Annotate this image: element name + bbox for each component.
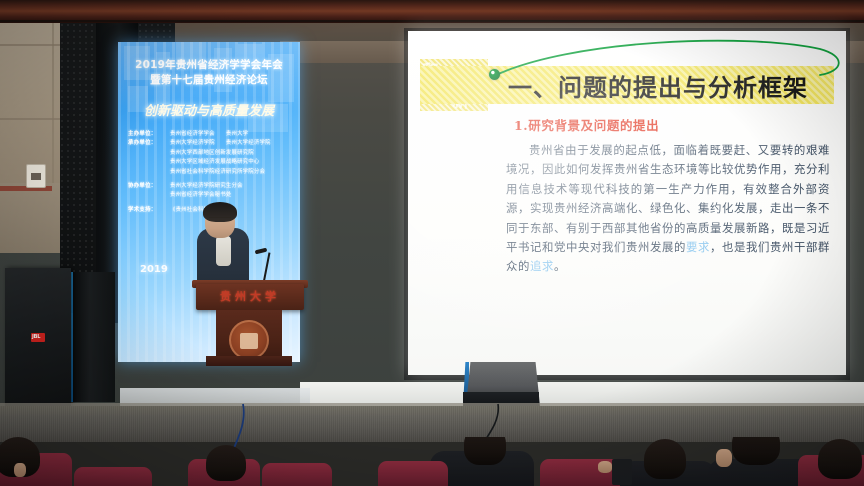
audience-head [732, 437, 780, 465]
banner-title-line2: 暨第十七届贵州经济论坛 [118, 73, 300, 88]
wall-switch-plate[interactable] [26, 164, 46, 188]
audience-head [206, 445, 246, 481]
audience-ear [716, 449, 732, 467]
jbl-logo [31, 333, 45, 342]
green-bullet-dot [489, 69, 500, 80]
speaker-cabinet-rear [73, 272, 115, 402]
audience-head [818, 439, 862, 479]
audience-face [14, 463, 26, 477]
conference-photo-scene: 2019年贵州省经济学学会年会 暨第十七届贵州经济论坛 创新驱动与高质量发展 主… [0, 0, 864, 486]
lectern-base [206, 356, 292, 366]
audience-head [644, 439, 686, 479]
body-tail-3: 。 [554, 259, 566, 273]
slide-title: 一、问题的提出与分析框架 [508, 67, 834, 103]
auditorium-seat[interactable] [262, 463, 332, 486]
presenter-glasses [209, 217, 231, 223]
body-highlight-1: 要求 [686, 240, 710, 254]
audience-front-row [0, 437, 864, 486]
university-emblem [229, 320, 269, 360]
smartphone[interactable] [612, 459, 632, 485]
organizer-row: 贵州大学区域经济发展战略研究中心 [128, 158, 294, 167]
organizer-row: 承办单位：贵州大学经济学院 贵州大学经济学院 [128, 139, 294, 148]
presenter-shirt [216, 236, 231, 266]
organizer-row: 贵州省社会科学院经济研究所学院分会 [128, 168, 294, 177]
auditorium-seat[interactable] [378, 461, 448, 486]
banner-title-line1: 2019年贵州省经济学学会年会 [118, 58, 300, 73]
trim-shadow-line [0, 20, 864, 22]
lectern-institution-text: 贵州大学 [196, 288, 304, 304]
auditorium-seat[interactable] [74, 467, 152, 486]
slide-body-text: 贵州省由于发展的起点低，面临着既要赶、又要转的艰难境况，因此如何发挥贵州省生态环… [506, 141, 830, 277]
wall-moulding-vertical [52, 23, 54, 183]
slide-subheading: 1.研究背景及问题的提出 [514, 115, 659, 134]
banner-title: 2019年贵州省经济学学会年会 暨第十七届贵州经济论坛 [118, 58, 300, 88]
projected-slide: 和 谐 创 新 一、问题的提出与分析框架 1.研究背景及问题的提出 贵州省由于发… [408, 31, 846, 375]
body-highlight-2: 追求 [530, 259, 554, 273]
banner-subtitle: 创新驱动与高质量发展 [118, 100, 300, 119]
audience-head [464, 437, 506, 465]
audience-hand [598, 461, 612, 473]
banner-year: 2019 [140, 264, 200, 275]
organizer-row: 贵州大学西部地区创新发展研究院 [128, 149, 294, 158]
organizer-row: 贵州省经济学学会秘书处 [128, 191, 294, 200]
organizer-row: 协办单位：贵州大学经济学院研究生分会 [128, 182, 294, 191]
organizer-row: 主办单位：贵州省经济学学会 贵州大学 [128, 130, 294, 139]
